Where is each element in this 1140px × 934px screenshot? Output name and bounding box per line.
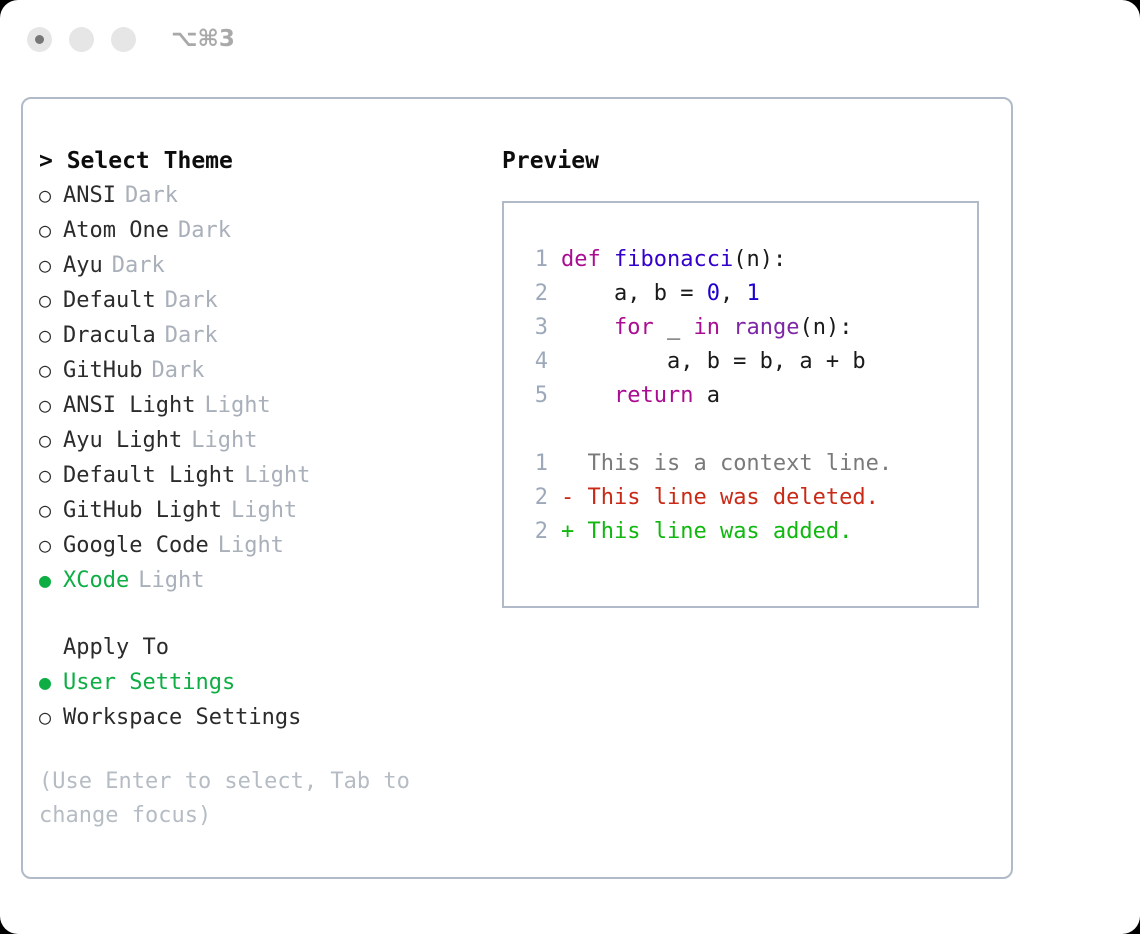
radio-unselected-icon[interactable]: ○ [39, 528, 63, 562]
theme-list-item[interactable]: ○DefaultDark [39, 283, 469, 318]
line-number: 2 [516, 515, 548, 549]
preview-box: 1def fibonacci(n):2 a, b = 0, 13 for _ i… [502, 201, 979, 608]
line-number: 3 [516, 311, 548, 345]
theme-list-item[interactable]: ○ANSI LightLight [39, 388, 469, 423]
theme-name-label: Ayu Light [63, 424, 182, 458]
code-line: 1def fibonacci(n): [516, 243, 977, 277]
diff-marker: + [561, 519, 574, 544]
theme-list-item[interactable]: ○Google CodeLight [39, 528, 469, 563]
code-token-plain: a, b = b, a + b [561, 349, 866, 374]
window-controls [27, 27, 136, 52]
theme-variant-tag: Light [218, 529, 284, 563]
theme-list-item[interactable]: ●XCodeLight [39, 563, 469, 598]
theme-variant-tag: Dark [151, 354, 204, 388]
theme-list-item[interactable]: ○Default LightLight [39, 458, 469, 493]
code-token-plain: (n): [799, 315, 852, 340]
keyboard-hint-text: (Use Enter to select, Tab to change focu… [39, 765, 449, 833]
code-token-kw: def [561, 247, 614, 272]
code-token-plain: (n): [733, 247, 786, 272]
apply-to-item[interactable]: ○Workspace Settings [39, 700, 469, 735]
theme-variant-tag: Dark [125, 179, 178, 213]
select-theme-heading: > Select Theme [39, 144, 469, 178]
theme-name-label: ANSI [63, 179, 116, 213]
radio-unselected-icon[interactable]: ○ [39, 700, 63, 734]
theme-list-item[interactable]: ○AyuDark [39, 248, 469, 283]
code-line: 3 for _ in range(n): [516, 311, 977, 345]
theme-name-label: Default [63, 284, 156, 318]
theme-variant-tag: Light [138, 564, 204, 598]
app-window: ⌥⌘3 > Select Theme ○ANSIDark○Atom OneDar… [0, 0, 1140, 934]
line-number: 1 [516, 243, 548, 277]
diff-text: This line was added. [574, 519, 852, 544]
theme-name-label: ANSI Light [63, 389, 195, 423]
radio-selected-icon[interactable]: ● [39, 563, 63, 597]
theme-name-label: XCode [63, 564, 129, 598]
code-token-plain [561, 315, 614, 340]
theme-name-label: Default Light [63, 459, 235, 493]
theme-name-label: Dracula [63, 319, 156, 353]
code-token-fn: fibonacci [614, 247, 733, 272]
radio-unselected-icon[interactable]: ○ [39, 318, 63, 352]
theme-variant-tag: Dark [112, 249, 165, 283]
theme-variant-tag: Dark [178, 214, 231, 248]
code-token-plain [720, 315, 733, 340]
theme-variant-tag: Light [204, 389, 270, 423]
code-content: for _ in range(n): [561, 311, 852, 345]
code-line: 5 return a [516, 379, 977, 413]
radio-unselected-icon[interactable]: ○ [39, 283, 63, 317]
apply-to-label: Workspace Settings [63, 701, 301, 735]
diff-line: 1 This is a context line. [516, 447, 977, 481]
radio-unselected-icon[interactable]: ○ [39, 248, 63, 282]
code-token-plain: , [720, 281, 747, 306]
theme-list-item[interactable]: ○GitHubDark [39, 353, 469, 388]
theme-list: ○ANSIDark○Atom OneDark○AyuDark○DefaultDa… [39, 178, 469, 598]
diff-text: This is a context line. [574, 451, 892, 476]
line-number: 1 [516, 447, 548, 481]
line-number: 2 [516, 277, 548, 311]
code-token-num: 0 [707, 281, 720, 306]
code-token-plain: a, b = [561, 281, 707, 306]
theme-name-label: Google Code [63, 529, 209, 563]
code-content: a, b = b, a + b [561, 345, 866, 379]
theme-list-item[interactable]: ○ANSIDark [39, 178, 469, 213]
line-number: 2 [516, 481, 548, 515]
theme-list-item[interactable]: ○Ayu LightLight [39, 423, 469, 458]
radio-unselected-icon[interactable]: ○ [39, 388, 63, 422]
code-line: 4 a, b = b, a + b [516, 345, 977, 379]
theme-name-label: GitHub Light [63, 494, 222, 528]
radio-unselected-icon[interactable]: ○ [39, 458, 63, 492]
recording-dot-icon[interactable] [27, 27, 52, 52]
theme-name-label: Ayu [63, 249, 103, 283]
code-token-plain [561, 383, 614, 408]
diff-sample: 1 This is a context line.2- This line wa… [516, 447, 977, 549]
diff-line: 2+ This line was added. [516, 515, 977, 549]
preview-column: Preview 1def fibonacci(n):2 a, b = 0, 13… [502, 144, 992, 608]
code-content: a, b = 0, 1 [561, 277, 760, 311]
apply-to-item[interactable]: ●User Settings [39, 665, 469, 700]
apply-to-list: ●User Settings○Workspace Settings [39, 665, 469, 735]
diff-content: + This line was added. [561, 515, 852, 549]
radio-unselected-icon[interactable]: ○ [39, 178, 63, 212]
keyboard-shortcut-label: ⌥⌘3 [171, 26, 235, 52]
dot-two-icon[interactable] [69, 27, 94, 52]
theme-variant-tag: Light [191, 424, 257, 458]
diff-text: This line was deleted. [574, 485, 879, 510]
code-content: def fibonacci(n): [561, 243, 786, 277]
theme-list-item[interactable]: ○Atom OneDark [39, 213, 469, 248]
diff-marker: - [561, 485, 574, 510]
theme-variant-tag: Dark [165, 284, 218, 318]
line-number: 4 [516, 345, 548, 379]
code-sample: 1def fibonacci(n):2 a, b = 0, 13 for _ i… [516, 243, 977, 413]
code-token-kw: in [693, 315, 720, 340]
theme-name-label: GitHub [63, 354, 142, 388]
dot-three-icon[interactable] [111, 27, 136, 52]
theme-variant-tag: Light [244, 459, 310, 493]
main-panel: > Select Theme ○ANSIDark○Atom OneDark○Ay… [21, 97, 1013, 879]
diff-line: 2- This line was deleted. [516, 481, 977, 515]
radio-unselected-icon[interactable]: ○ [39, 423, 63, 457]
code-token-plain: _ [654, 315, 694, 340]
code-token-plain: a [693, 383, 720, 408]
diff-content: - This line was deleted. [561, 481, 879, 515]
code-token-kw: for [614, 315, 654, 340]
line-number: 5 [516, 379, 548, 413]
radio-unselected-icon[interactable]: ○ [39, 493, 63, 527]
theme-selector-column: > Select Theme ○ANSIDark○Atom OneDark○Ay… [39, 144, 469, 833]
theme-variant-tag: Dark [165, 319, 218, 353]
preview-heading: Preview [502, 144, 992, 178]
code-token-num: 1 [746, 281, 759, 306]
theme-list-item[interactable]: ○GitHub LightLight [39, 493, 469, 528]
diff-marker [561, 451, 574, 476]
apply-to-label: User Settings [63, 666, 235, 700]
code-content: return a [561, 379, 720, 413]
code-line: 2 a, b = 0, 1 [516, 277, 977, 311]
theme-variant-tag: Light [231, 494, 297, 528]
code-token-kw: return [614, 383, 693, 408]
diff-content: This is a context line. [561, 447, 892, 481]
radio-unselected-icon[interactable]: ○ [39, 213, 63, 247]
window-titlebar: ⌥⌘3 [0, 0, 1140, 78]
code-spacer [516, 413, 977, 447]
code-token-call: range [733, 315, 799, 340]
theme-name-label: Atom One [63, 214, 169, 248]
radio-selected-icon[interactable]: ● [39, 665, 63, 699]
radio-unselected-icon[interactable]: ○ [39, 353, 63, 387]
theme-list-item[interactable]: ○DraculaDark [39, 318, 469, 353]
apply-to-heading: Apply To [39, 631, 469, 665]
